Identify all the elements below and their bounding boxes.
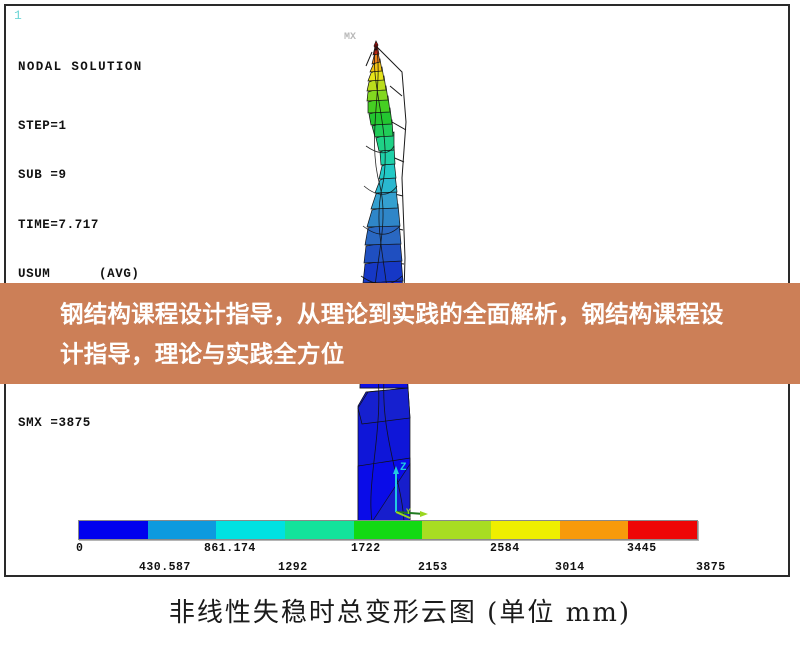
overlay-banner: 钢结构课程设计指导，从理论到实践的全面解析，钢结构课程设计指导，理论与实践全方位 bbox=[0, 283, 800, 384]
param-sub: SUB =9 bbox=[18, 167, 143, 184]
legend-tick-bottom-2: 2153 bbox=[418, 561, 448, 574]
legend-tick-top-2: 1722 bbox=[351, 542, 381, 555]
legend-tick-bottom-4: 3875 bbox=[696, 561, 726, 574]
coordinate-axis-triad: Z X Y bbox=[384, 464, 434, 520]
legend-band-yellow-green bbox=[422, 521, 491, 539]
deformed-model-graphic: MX bbox=[306, 26, 486, 526]
legend-band-light-blue bbox=[148, 521, 217, 539]
param-time: TIME=7.717 bbox=[18, 217, 143, 234]
param-smx: SMX =3875 bbox=[18, 415, 143, 432]
nodal-solution-header: NODAL SOLUTION STEP=1 SUB =9 TIME=7.717 … bbox=[18, 26, 143, 464]
contour-color-legend bbox=[78, 520, 698, 540]
legend-tick-top-0: 0 bbox=[76, 542, 83, 555]
solution-title: NODAL SOLUTION bbox=[18, 59, 143, 76]
legend-band-orange bbox=[560, 521, 629, 539]
figure-caption: 非线性失稳时总变形云图 (单位 mm) bbox=[0, 592, 800, 629]
contour-model-svg bbox=[306, 26, 486, 526]
legend-band-cyan bbox=[216, 521, 285, 539]
legend-tick-labels: 0 861.174 1722 2584 3445 430.587 1292 21… bbox=[6, 542, 790, 577]
legend-tick-top-1: 861.174 bbox=[204, 542, 256, 555]
max-deformation-marker: MX bbox=[344, 32, 356, 43]
param-usum: USUM (AVG) bbox=[18, 266, 143, 283]
legend-tick-bottom-3: 3014 bbox=[555, 561, 585, 574]
legend-band-red bbox=[628, 521, 697, 539]
axis-label-y: Y bbox=[406, 508, 411, 517]
banner-title-text: 钢结构课程设计指导，从理论到实践的全面解析，钢结构课程设计指导，理论与实践全方位 bbox=[0, 294, 800, 374]
legend-band-blue bbox=[79, 521, 148, 539]
param-step: STEP=1 bbox=[18, 118, 143, 135]
legend-band-yellow bbox=[491, 521, 560, 539]
window-number-label: 1 bbox=[14, 8, 22, 23]
legend-tick-top-4: 3445 bbox=[627, 542, 657, 555]
legend-tick-top-3: 2584 bbox=[490, 542, 520, 555]
legend-band-green bbox=[354, 521, 423, 539]
axis-label-x: X bbox=[424, 502, 431, 514]
axis-label-z: Z bbox=[400, 462, 407, 474]
legend-tick-bottom-1: 1292 bbox=[278, 561, 308, 574]
legend-band-spring-green bbox=[285, 521, 354, 539]
legend-tick-bottom-0: 430.587 bbox=[139, 561, 191, 574]
